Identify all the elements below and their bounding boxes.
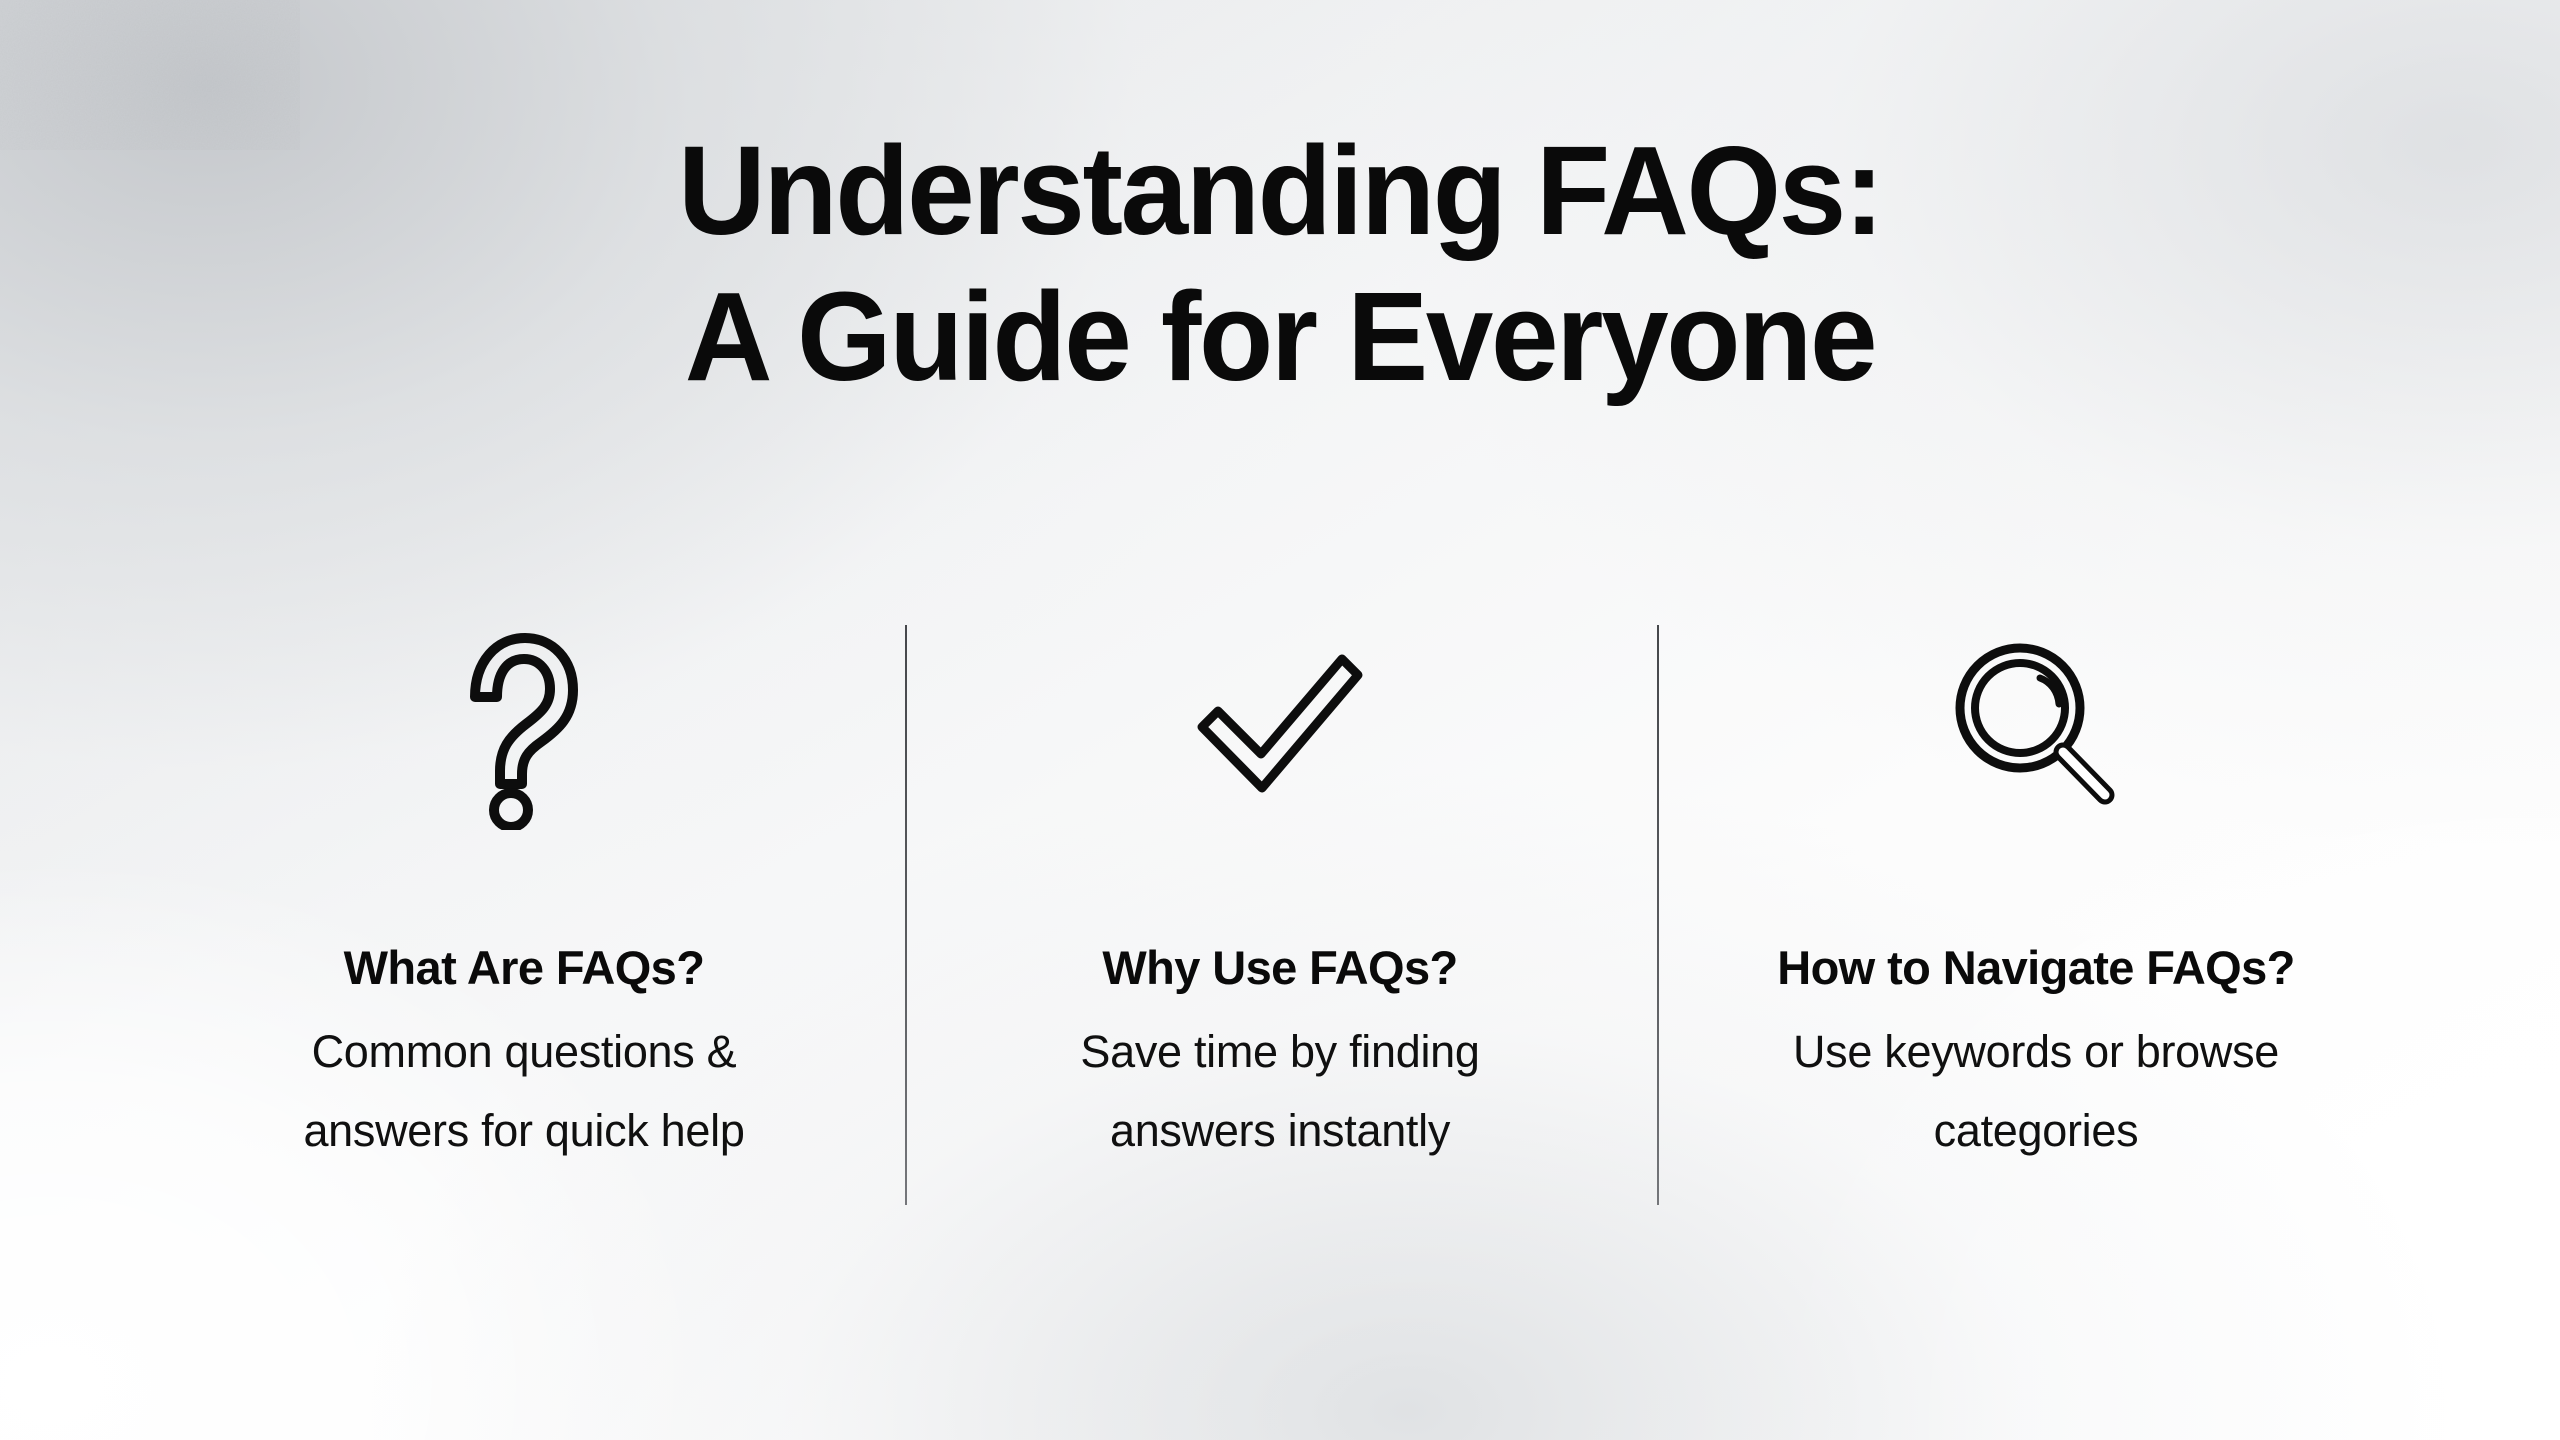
column-3-heading: How to Navigate FAQs? bbox=[1777, 940, 2295, 996]
column-3-body-line-1: Use keywords or browse bbox=[1793, 1012, 2279, 1091]
slide-canvas: Understanding FAQs: A Guide for Everyone… bbox=[0, 0, 2560, 1440]
column-2-heading: Why Use FAQs? bbox=[1102, 940, 1457, 996]
column-2-body-line-2: answers instantly bbox=[1080, 1091, 1479, 1170]
feature-column-how-to-navigate-faqs: How to Navigate FAQs? Use keywords or br… bbox=[1656, 612, 2416, 1170]
page-title: Understanding FAQs: A Guide for Everyone bbox=[0, 118, 2560, 410]
question-mark-icon bbox=[449, 612, 599, 842]
magnifying-glass-icon bbox=[1947, 612, 2125, 842]
column-3-body: Use keywords or browse categories bbox=[1793, 1012, 2279, 1170]
checkmark-icon bbox=[1194, 612, 1366, 842]
title-line-1: Understanding FAQs: bbox=[45, 118, 2515, 264]
feature-column-why-use-faqs: Why Use FAQs? Save time by finding answe… bbox=[904, 612, 1656, 1170]
column-1-body-line-2: answers for quick help bbox=[303, 1091, 744, 1170]
column-1-heading: What Are FAQs? bbox=[344, 940, 705, 996]
feature-column-what-are-faqs: What Are FAQs? Common questions & answer… bbox=[144, 612, 904, 1170]
column-1-body: Common questions & answers for quick hel… bbox=[303, 1012, 744, 1170]
column-3-body-line-2: categories bbox=[1793, 1091, 2279, 1170]
column-1-body-line-1: Common questions & bbox=[303, 1012, 744, 1091]
feature-columns: What Are FAQs? Common questions & answer… bbox=[120, 612, 2440, 1212]
column-2-body-line-1: Save time by finding bbox=[1080, 1012, 1479, 1091]
title-line-2: A Guide for Everyone bbox=[45, 264, 2515, 410]
column-2-body: Save time by finding answers instantly bbox=[1080, 1012, 1479, 1170]
